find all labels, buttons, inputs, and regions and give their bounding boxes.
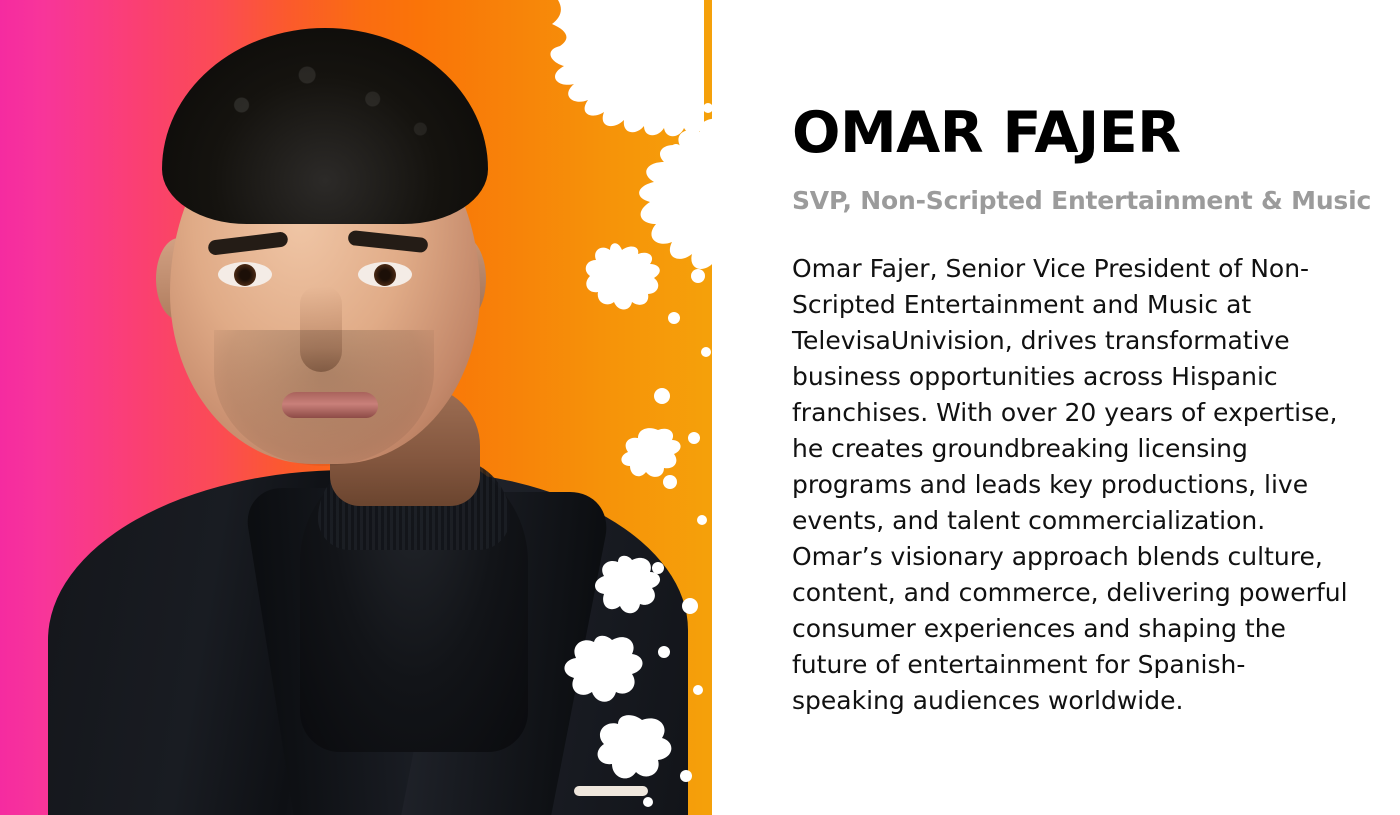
iris-right bbox=[374, 264, 396, 286]
speaker-biography: Omar Fajer, Senior Vice President of Non… bbox=[792, 251, 1352, 719]
speaker-name: OMAR FAJER bbox=[792, 104, 1400, 164]
speaker-bio-card: OMAR FAJER SVP, Non-Scripted Entertainme… bbox=[0, 0, 1400, 815]
eye-left bbox=[218, 262, 272, 287]
bio-text-column: OMAR FAJER SVP, Non-Scripted Entertainme… bbox=[792, 0, 1400, 815]
hair-texture bbox=[176, 36, 474, 186]
eye-right bbox=[358, 262, 412, 287]
paint-splatter-edge bbox=[462, 0, 722, 815]
mouth bbox=[282, 392, 378, 418]
iris-left bbox=[234, 264, 256, 286]
speaker-title: SVP, Non-Scripted Entertainment & Music bbox=[792, 186, 1400, 216]
portrait-media-panel bbox=[0, 0, 722, 815]
